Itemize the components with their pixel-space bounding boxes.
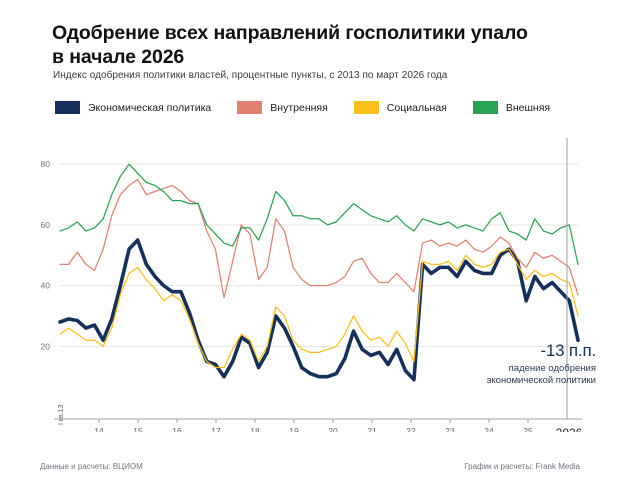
legend-swatch-internal [237,101,262,114]
x-tick-8: 21 [367,426,377,432]
x-tick-7: 20 [328,426,338,432]
legend-swatch-external [473,101,498,114]
legend-item-social[interactable]: Социальная [354,101,447,114]
y-tick-80: 80 [41,159,51,169]
y-tick-20: 20 [41,341,51,351]
annotation-description: падение одобрения экономической политики [487,363,596,387]
footer-divider [0,447,618,448]
legend-swatch-economic [55,101,80,114]
chart-subtitle: Индекс одобрения политики властей, проце… [53,70,593,81]
chart-page: Одобрение всех направлений госполитики у… [0,0,618,493]
chart-y-tick-labels: 20406080 [41,159,51,351]
chart-x-tick-labels: I кв.131415161718192021222324252026 [58,404,583,432]
footer-source-right: График и расчеты: Frank Media [464,462,580,471]
annotation-value: -13 п.п. [487,340,596,361]
legend-label-social: Социальная [387,102,447,114]
x-tick-1: 14 [94,426,104,432]
y-tick-60: 60 [41,220,51,230]
x-tick-10: 23 [445,426,455,432]
x-tick-3: 16 [172,426,182,432]
x-tick-9: 22 [406,426,416,432]
x-tick-2: 15 [133,426,143,432]
chart-annotation: -13 п.п. падение одобрения экономической… [487,340,596,387]
legend-swatch-social [354,101,379,114]
chart-plot-area: 20406080 I кв.13141516171819202122232425… [0,132,618,432]
chart-legend: Экономическая политика Внутренняя Социал… [55,101,550,114]
x-tick-13: 2026 [556,426,583,432]
legend-item-internal[interactable]: Внутренняя [237,101,328,114]
x-tick-11: 24 [484,426,494,432]
legend-label-internal: Внутренняя [270,102,328,114]
legend-item-economic[interactable]: Экономическая политика [55,101,211,114]
line-chart-svg: 20406080 I кв.13141516171819202122232425… [0,132,618,432]
x-tick-6: 19 [289,426,299,432]
x-tick-0: I кв.13 [58,404,65,425]
footer-source-left: Данные и расчеты: ВЦИОМ [40,462,143,471]
y-tick-40: 40 [41,281,51,291]
legend-label-economic: Экономическая политика [88,102,211,114]
legend-label-external: Внешняя [506,102,550,114]
page-title: Одобрение всех направлений госполитики у… [52,22,592,70]
x-tick-5: 18 [250,426,260,432]
x-tick-4: 17 [211,426,221,432]
legend-item-external[interactable]: Внешняя [473,101,550,114]
x-tick-12: 25 [523,426,533,432]
